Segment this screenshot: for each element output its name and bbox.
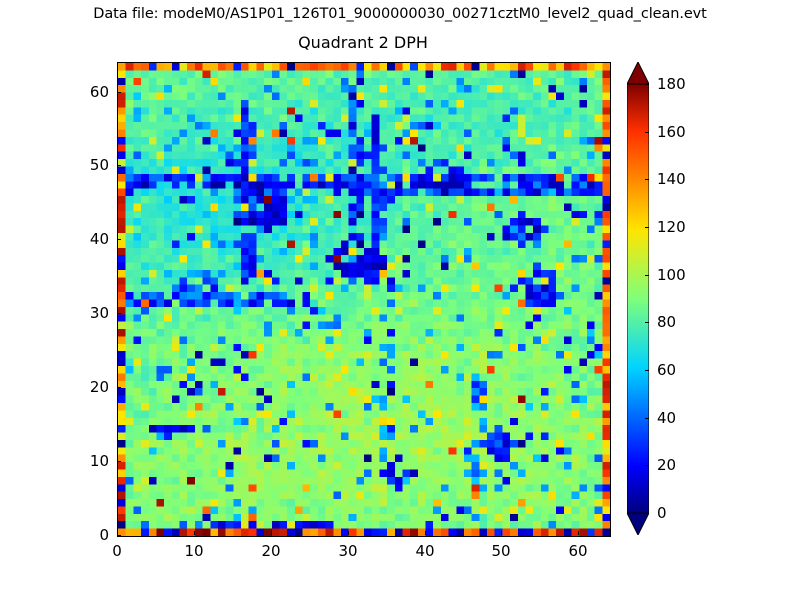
x-tick-mark [271, 531, 272, 535]
y-tick-mark [117, 387, 121, 388]
y-tick-mark [117, 239, 121, 240]
x-tick-mark [348, 531, 349, 535]
y-tick-label: 10 [69, 452, 109, 470]
y-tick-label: 50 [69, 156, 109, 174]
colorbar-tick-mark [645, 275, 649, 276]
y-tick-mark [117, 92, 121, 93]
x-tick-label: 50 [491, 542, 510, 560]
colorbar-tick-mark [645, 465, 649, 466]
colorbar-tick-label: 40 [657, 409, 676, 427]
x-tick-label: 10 [184, 542, 203, 560]
heatmap-axes[interactable] [117, 62, 611, 537]
x-tick-label: 60 [568, 542, 587, 560]
colorbar-extend-high-arrow [627, 62, 649, 84]
x-tick-label: 0 [112, 542, 122, 560]
colorbar-tick-mark [645, 227, 649, 228]
y-tick-label: 40 [69, 230, 109, 248]
x-tick-label: 40 [415, 542, 434, 560]
colorbar-tick-label: 100 [657, 266, 686, 284]
colorbar-tick-label: 160 [657, 123, 686, 141]
colorbar-tick-mark [645, 322, 649, 323]
y-tick-mark [117, 535, 121, 536]
y-tick-label: 30 [69, 304, 109, 322]
y-tick-label: 20 [69, 378, 109, 396]
colorbar-tick-label: 140 [657, 170, 686, 188]
x-tick-label: 20 [261, 542, 280, 560]
x-tick-mark [194, 531, 195, 535]
y-tick-label: 0 [69, 526, 109, 544]
colorbar-tick-mark [645, 132, 649, 133]
colorbar-tick-mark [645, 84, 649, 85]
y-tick-mark [117, 461, 121, 462]
figure-canvas: Data file: modeM0/AS1P01_126T01_90000000… [0, 0, 800, 600]
data-file-suptitle: Data file: modeM0/AS1P01_126T01_90000000… [0, 6, 800, 22]
x-tick-mark [578, 531, 579, 535]
colorbar-tick-label: 80 [657, 313, 676, 331]
colorbar-tick-mark [645, 370, 649, 371]
colorbar-tick-label: 0 [657, 504, 667, 522]
colorbar-tick-label: 20 [657, 456, 676, 474]
colorbar-tick-label: 180 [657, 75, 686, 93]
chart-title: Quadrant 2 DPH [117, 33, 609, 52]
colorbar-tick-mark [645, 179, 649, 180]
colorbar-tick-label: 120 [657, 218, 686, 236]
y-tick-mark [117, 313, 121, 314]
x-tick-label: 30 [338, 542, 357, 560]
x-tick-mark [501, 531, 502, 535]
colorbar-tick-mark [645, 513, 649, 514]
colorbar-tick-label: 60 [657, 361, 676, 379]
heatmap-image[interactable] [118, 63, 610, 536]
y-tick-mark [117, 165, 121, 166]
x-tick-mark [425, 531, 426, 535]
colorbar-extend-low-arrow [627, 513, 649, 535]
colorbar-tick-mark [645, 418, 649, 419]
y-tick-label: 60 [69, 83, 109, 101]
